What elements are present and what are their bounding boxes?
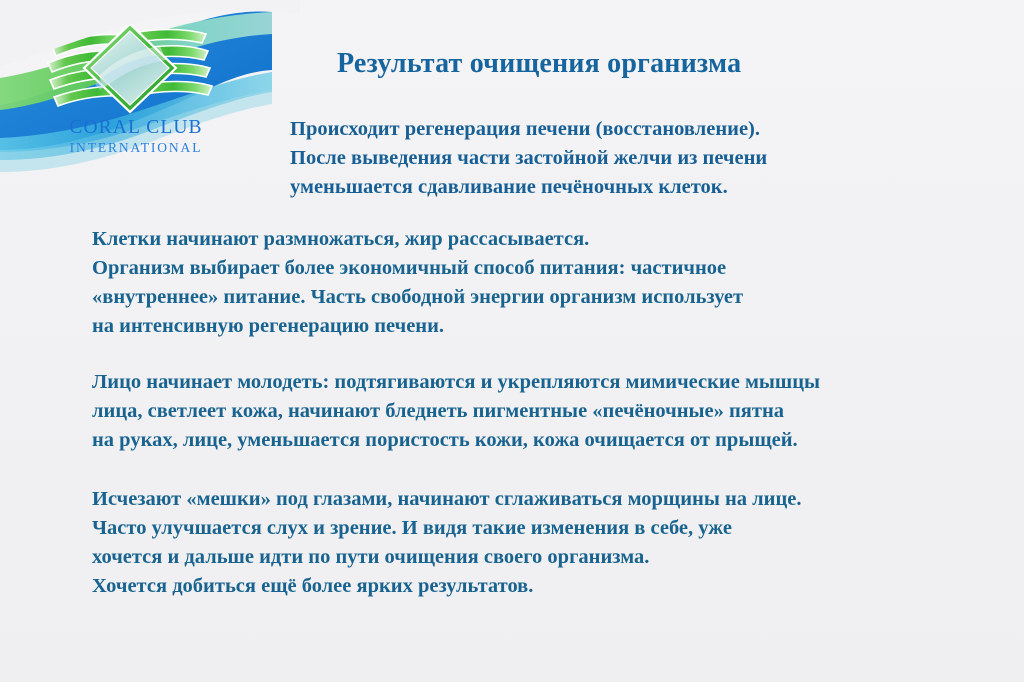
paragraph-cell-multiplication: Клетки начинают размножаться, жир рассас… [92,225,743,341]
paragraph-facial-rejuvenation: Лицо начинает молодеть: подтягиваются и … [92,368,820,455]
page-title: Результат очищения организма [337,48,741,80]
coral-club-logo: CORAL CLUB INTERNATIONAL [0,0,300,200]
paragraph-liver-regeneration: Происходит регенерация печени (восстанов… [290,115,767,202]
logo-wave-emblem-graphic [0,0,300,200]
presentation-slide: CORAL CLUB INTERNATIONAL Результат очище… [0,0,1024,682]
paragraph-eye-bags-and-results: Исчезают «мешки» под глазами, начинают с… [92,485,802,601]
